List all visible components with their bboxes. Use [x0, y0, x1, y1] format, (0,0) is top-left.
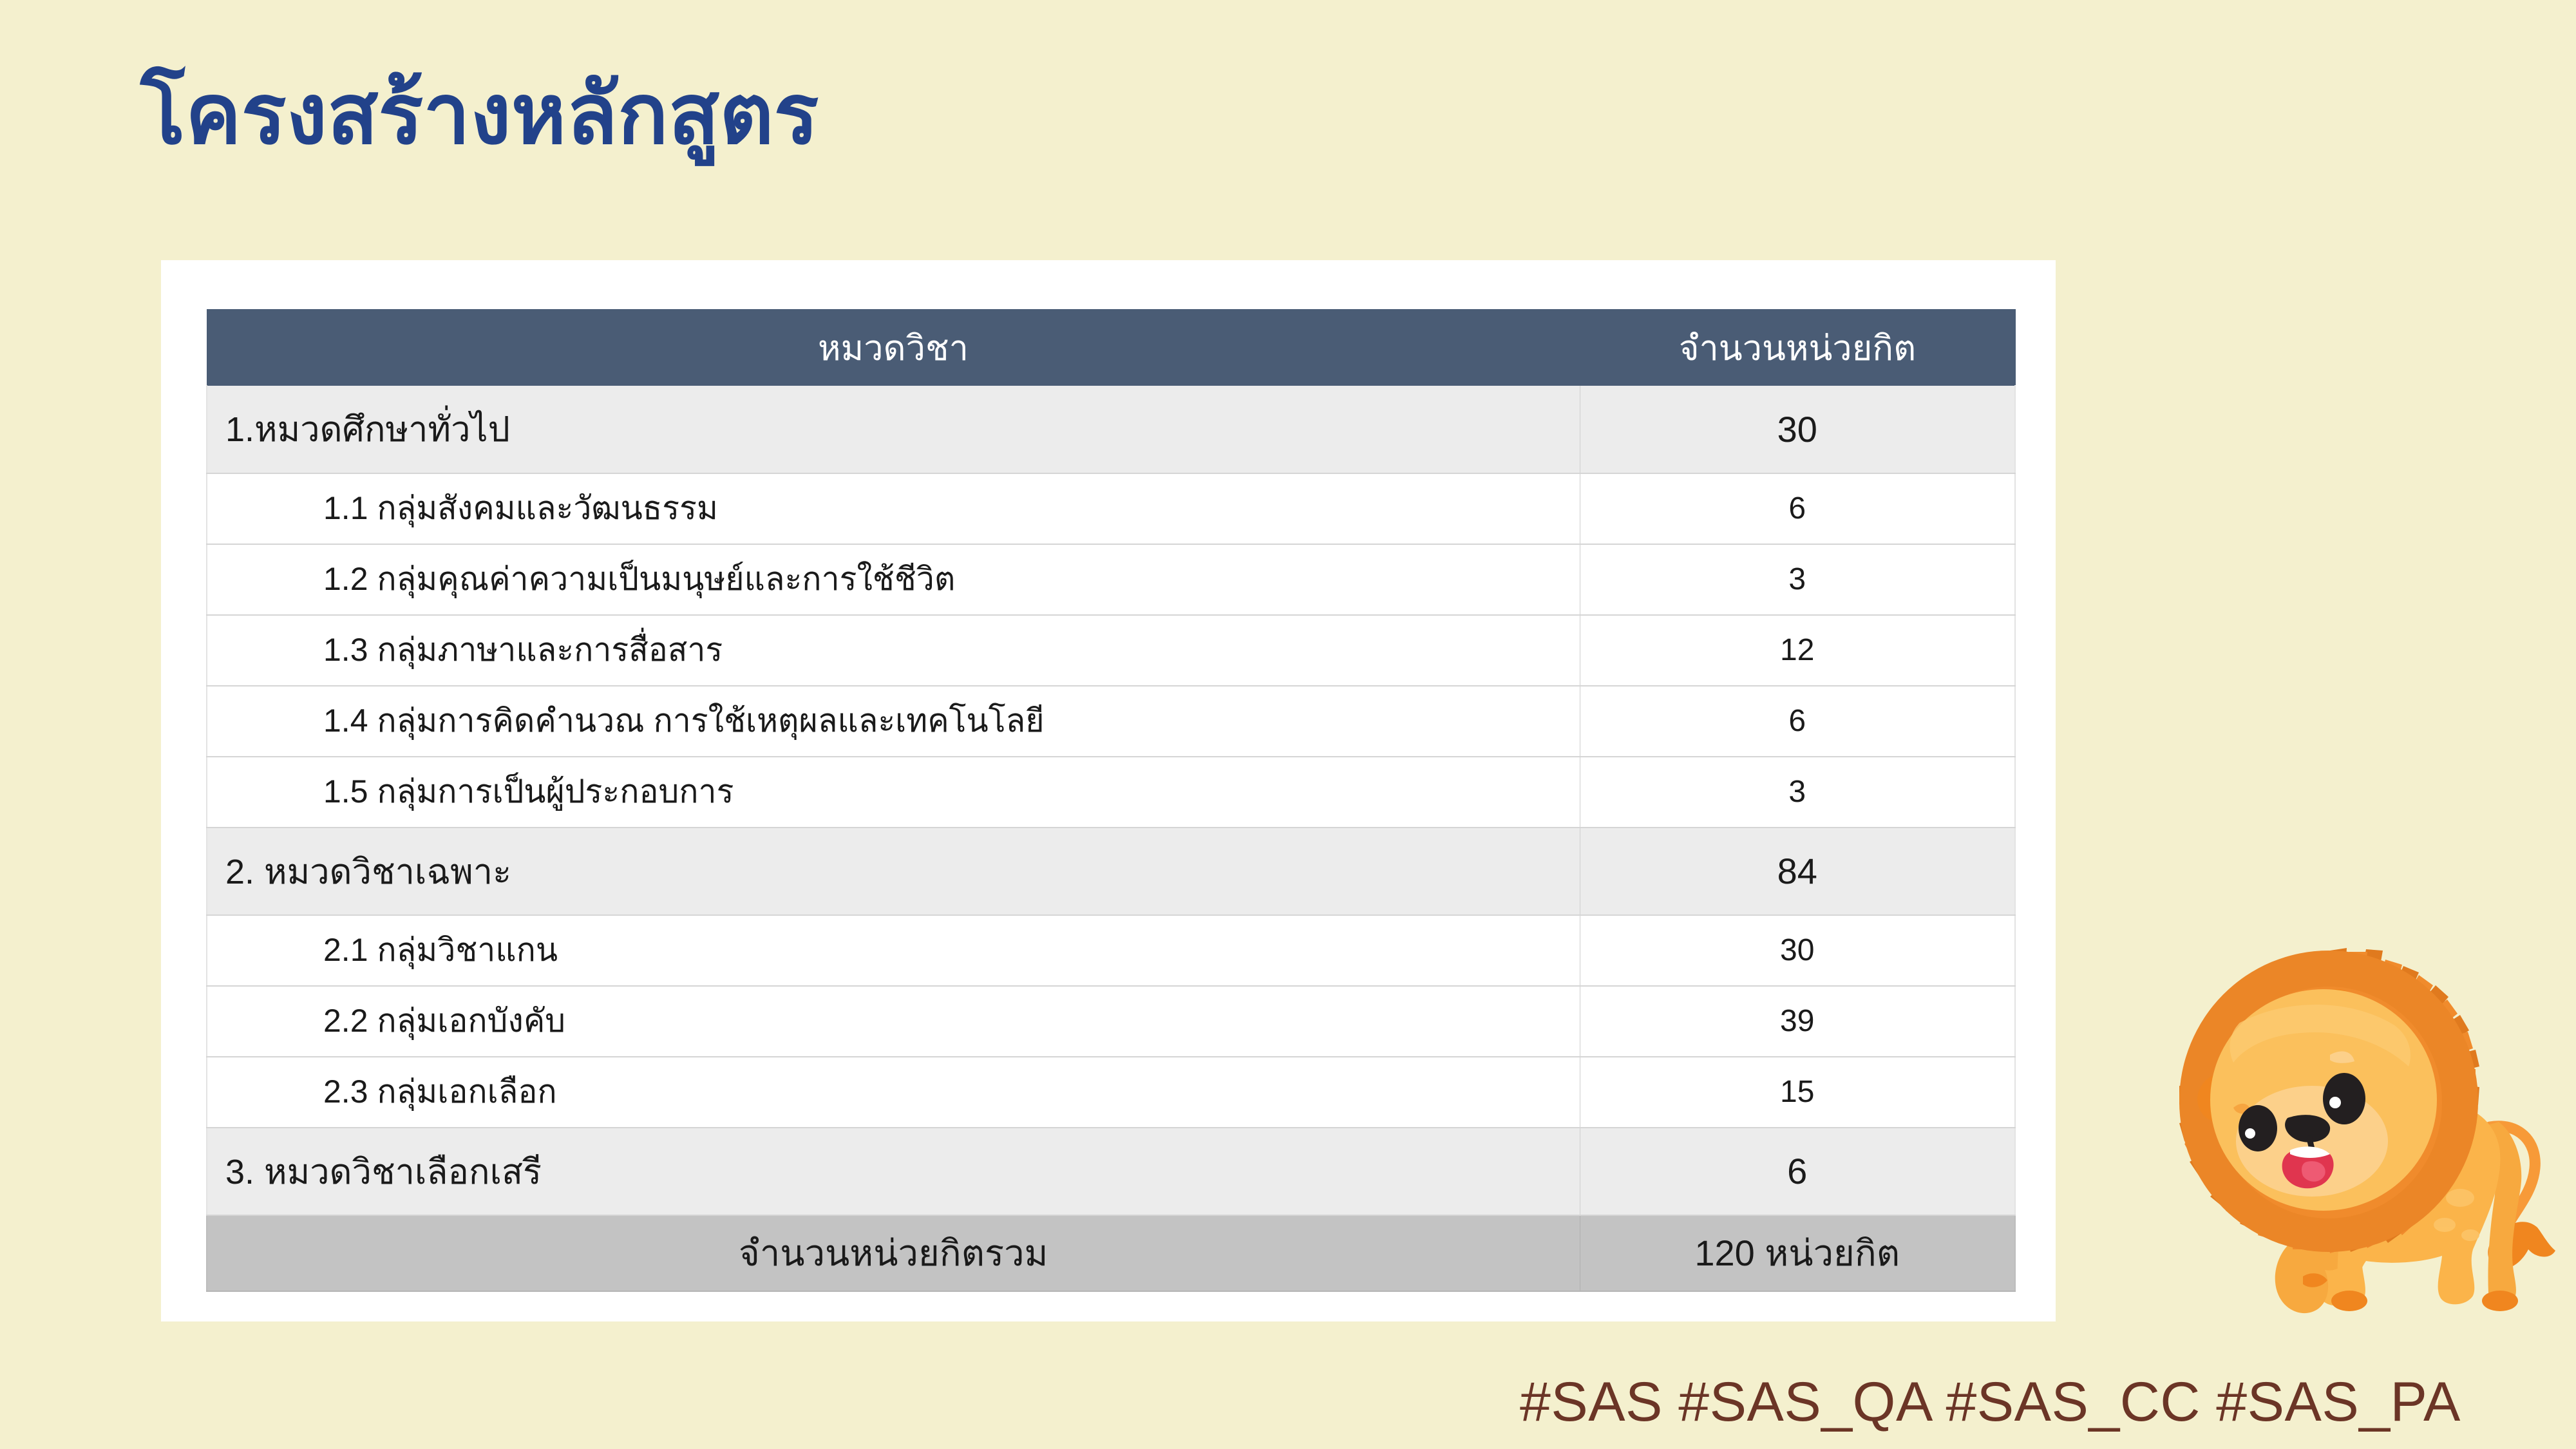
table-row: 1.4 กลุ่มการคิดคำนวณ การใช้เหตุผลและเทคโ… [207, 686, 2015, 757]
table-row: 2. หมวดวิชาเฉพาะ 84 [207, 828, 2015, 915]
hashtag-footer: #SAS #SAS_QA #SAS_CC #SAS_PA [1520, 1370, 2461, 1434]
page-title: โครงสร้างหลักสูตร [140, 62, 819, 167]
table-row: 1.5 กลุ่มการเป็นผู้ประกอบการ 3 [207, 757, 2015, 828]
lion-mascot [2125, 914, 2576, 1333]
lion-front-foot [2331, 1291, 2367, 1311]
table-row: 1.1 กลุ่มสังคมและวัฒนธรรม 6 [207, 473, 2015, 544]
cell-subject: 1.หมวดศึกษาทั่วไป [207, 386, 1580, 473]
cell-credits: 6 [1580, 686, 2015, 757]
cell-subject: 1.3 กลุ่มภาษาและการสื่อสาร [207, 615, 1580, 686]
cell-credits: 6 [1580, 473, 2015, 544]
cell-credits: 3 [1580, 544, 2015, 615]
table-row: 3. หมวดวิชาเลือกเสรี 6 [207, 1128, 2015, 1215]
curriculum-structure-table: หมวดวิชา จำนวนหน่วยกิต 1.หมวดศึกษาทั่วไป… [206, 309, 2016, 1292]
table-row: 1.3 กลุ่มภาษาและการสื่อสาร 12 [207, 615, 2015, 686]
table-header-row: หมวดวิชา จำนวนหน่วยกิต [207, 310, 2015, 386]
cell-subject: 1.5 กลุ่มการเป็นผู้ประกอบการ [207, 757, 1580, 828]
cell-subject: 1.1 กลุ่มสังคมและวัฒนธรรม [207, 473, 1580, 544]
cell-credits: 12 [1580, 615, 2015, 686]
cell-credits: 15 [1580, 1057, 2015, 1128]
cell-subject: 2.2 กลุ่มเอกบังคับ [207, 986, 1580, 1057]
cell-credits: 84 [1580, 828, 2015, 915]
lion-hind-foot [2482, 1291, 2518, 1311]
table-card: หมวดวิชา จำนวนหน่วยกิต 1.หมวดศึกษาทั่วไป… [161, 260, 2056, 1321]
cell-subject: 3. หมวดวิชาเลือกเสรี [207, 1128, 1580, 1215]
table-row: 1.หมวดศึกษาทั่วไป 30 [207, 386, 2015, 473]
total-value: 120 หน่วยกิต [1580, 1215, 2015, 1291]
cell-subject: 1.4 กลุ่มการคิดคำนวณ การใช้เหตุผลและเทคโ… [207, 686, 1580, 757]
cell-credits: 30 [1580, 915, 2015, 986]
cell-credits: 3 [1580, 757, 2015, 828]
table-body: 1.หมวดศึกษาทั่วไป 30 1.1 กลุ่มสังคมและวั… [207, 386, 2015, 1215]
total-row: จำนวนหน่วยกิตรวม 120 หน่วยกิต [207, 1215, 2015, 1291]
table-row: 2.1 กลุ่มวิชาแกน 30 [207, 915, 2015, 986]
cell-subject: 2.1 กลุ่มวิชาแกน [207, 915, 1580, 986]
table-footer: จำนวนหน่วยกิตรวม 120 หน่วยกิต [207, 1215, 2015, 1291]
column-header-credits: จำนวนหน่วยกิต [1580, 310, 2015, 386]
total-label: จำนวนหน่วยกิตรวม [207, 1215, 1580, 1291]
table-row: 2.3 กลุ่มเอกเลือก 15 [207, 1057, 2015, 1128]
column-header-subject: หมวดวิชา [207, 310, 1580, 386]
cell-subject: 2.3 กลุ่มเอกเลือก [207, 1057, 1580, 1128]
table-row: 2.2 กลุ่มเอกบังคับ 39 [207, 986, 2015, 1057]
table-row: 1.2 กลุ่มคุณค่าความเป็นมนุษย์และการใช้ชี… [207, 544, 2015, 615]
cell-credits: 6 [1580, 1128, 2015, 1215]
table-header: หมวดวิชา จำนวนหน่วยกิต [207, 310, 2015, 386]
cell-credits: 30 [1580, 386, 2015, 473]
cell-credits: 39 [1580, 986, 2015, 1057]
cell-subject: 1.2 กลุ่มคุณค่าความเป็นมนุษย์และการใช้ชี… [207, 544, 1580, 615]
cell-subject: 2. หมวดวิชาเฉพาะ [207, 828, 1580, 915]
